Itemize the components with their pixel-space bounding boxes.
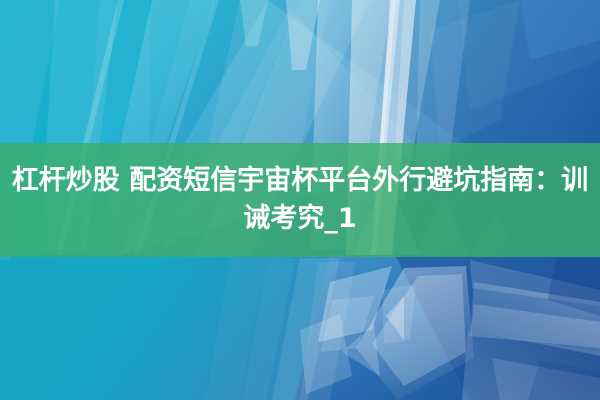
title-overlay-band: 杠杆炒股 配资短信宇宙杯平台外行避坑指南：训诫考究_1 [0, 143, 600, 257]
article-banner: 杠杆炒股 配资短信宇宙杯平台外行避坑指南：训诫考究_1 [0, 0, 600, 400]
page-title: 杠杆炒股 配资短信宇宙杯平台外行避坑指南：训诫考究_1 [6, 162, 594, 239]
